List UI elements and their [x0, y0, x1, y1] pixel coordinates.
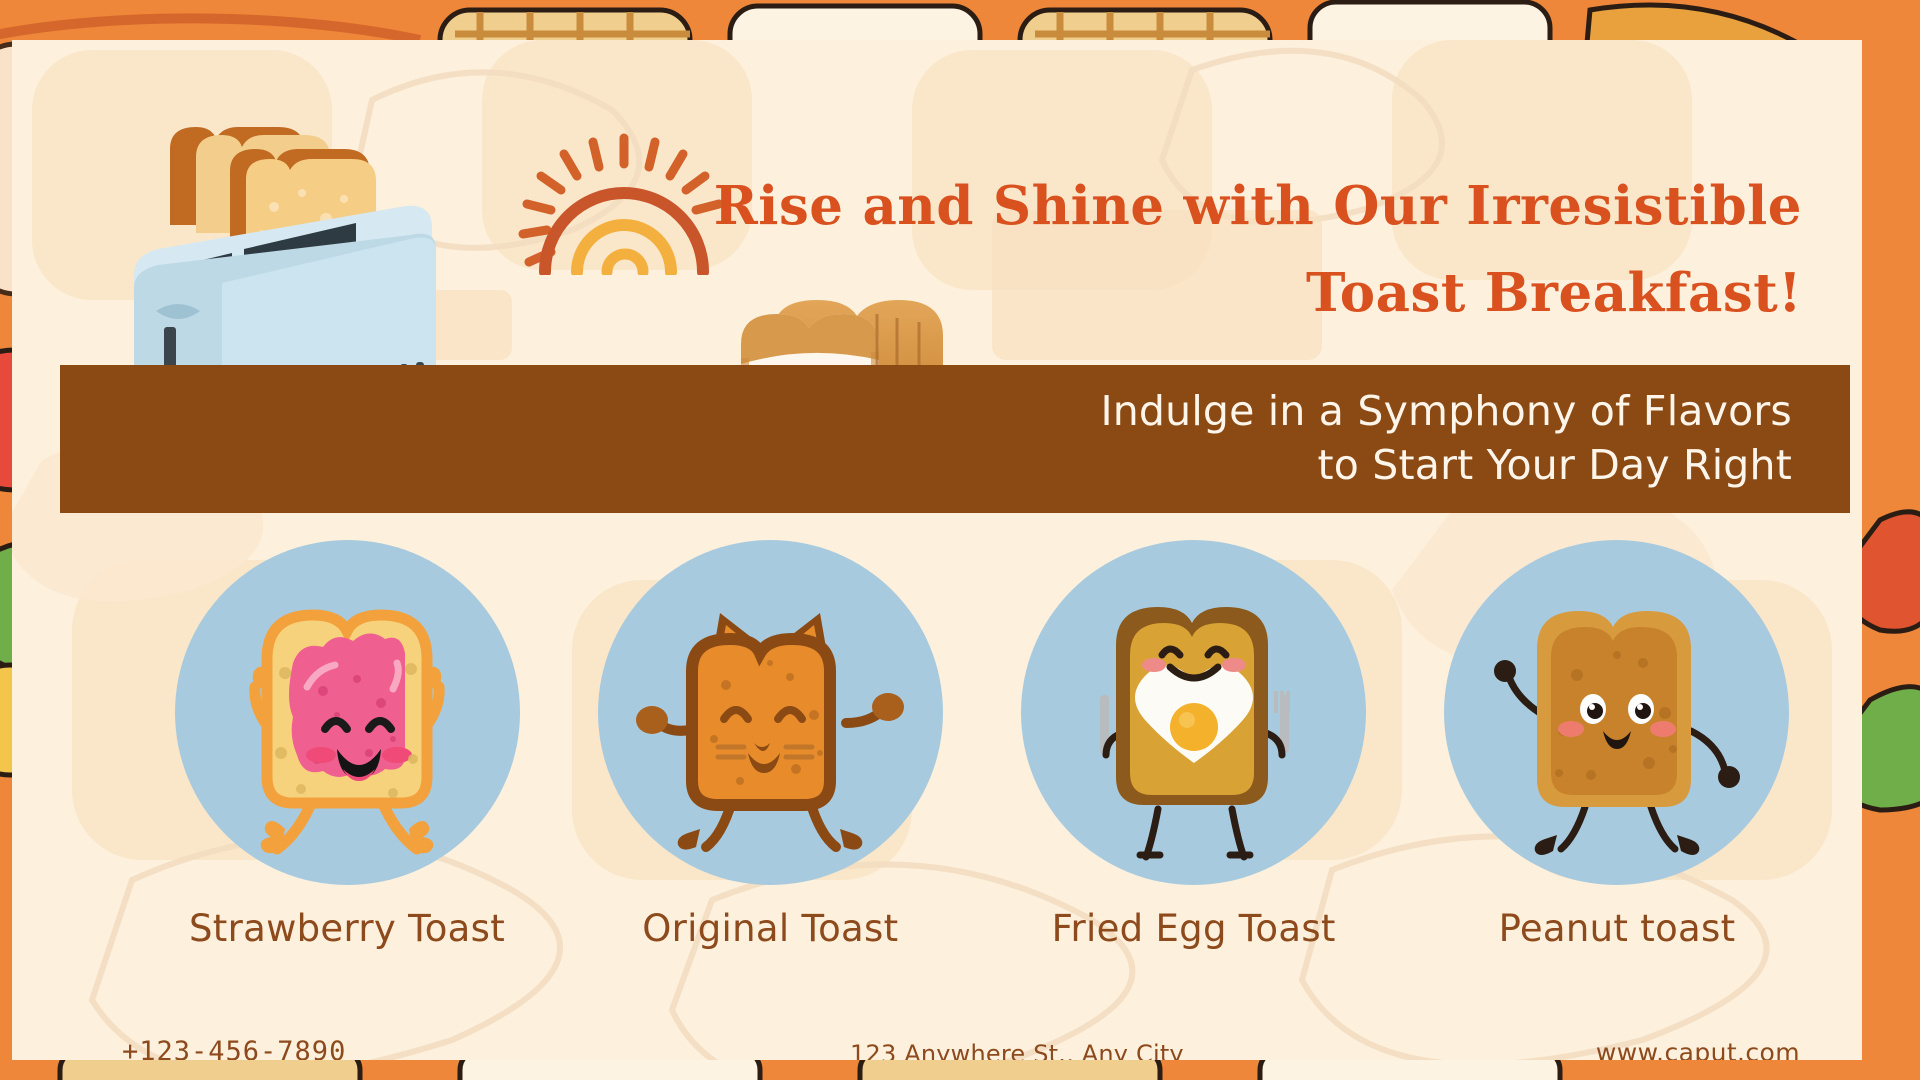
- footer-website[interactable]: www.caput.com: [1596, 1038, 1800, 1060]
- original-toast-character: [620, 563, 920, 863]
- product-disc: [1021, 540, 1366, 885]
- headline-line-2: Toast Breakfast!: [712, 267, 1802, 320]
- strawberry-toast-character: [197, 563, 497, 863]
- subtitle-line-2: to Start Your Day Right: [912, 438, 1792, 492]
- sunrise-icon: [517, 130, 727, 275]
- product-card-original[interactable]: Original Toast: [575, 540, 965, 950]
- product-card-fried-egg[interactable]: Fried Egg Toast: [999, 540, 1389, 950]
- footer-phone[interactable]: +123-456-7890: [122, 1036, 346, 1060]
- product-card-strawberry[interactable]: Strawberry Toast: [152, 540, 542, 950]
- subtitle-line-1: Indulge in a Symphony of Flavors: [912, 384, 1792, 438]
- product-label: Fried Egg Toast: [1052, 907, 1336, 950]
- footer-address[interactable]: 123 Anywhere St., Any City: [850, 1040, 1184, 1060]
- product-disc: [1444, 540, 1789, 885]
- poster-canvas: Rise and Shine with Our Irresistible Toa…: [0, 0, 1920, 1080]
- fried-egg-toast-character: [1044, 563, 1344, 863]
- footer: +123-456-7890 123 Anywhere St., Any City…: [60, 1030, 1860, 1060]
- page-title: Rise and Shine with Our Irresistible Toa…: [712, 180, 1802, 320]
- content-panel: Rise and Shine with Our Irresistible Toa…: [12, 40, 1862, 1060]
- product-card-peanut[interactable]: Peanut toast: [1422, 540, 1812, 950]
- subtitle-text: Indulge in a Symphony of Flavors to Star…: [912, 384, 1792, 492]
- product-label: Strawberry Toast: [189, 907, 505, 950]
- product-label: Peanut toast: [1499, 907, 1736, 950]
- peanut-toast-character: [1467, 563, 1767, 863]
- product-disc: [175, 540, 520, 885]
- product-label: Original Toast: [642, 907, 898, 950]
- product-list: Strawberry Toast: [152, 540, 1812, 970]
- headline-line-1: Rise and Shine with Our Irresistible: [712, 180, 1802, 233]
- product-disc: [598, 540, 943, 885]
